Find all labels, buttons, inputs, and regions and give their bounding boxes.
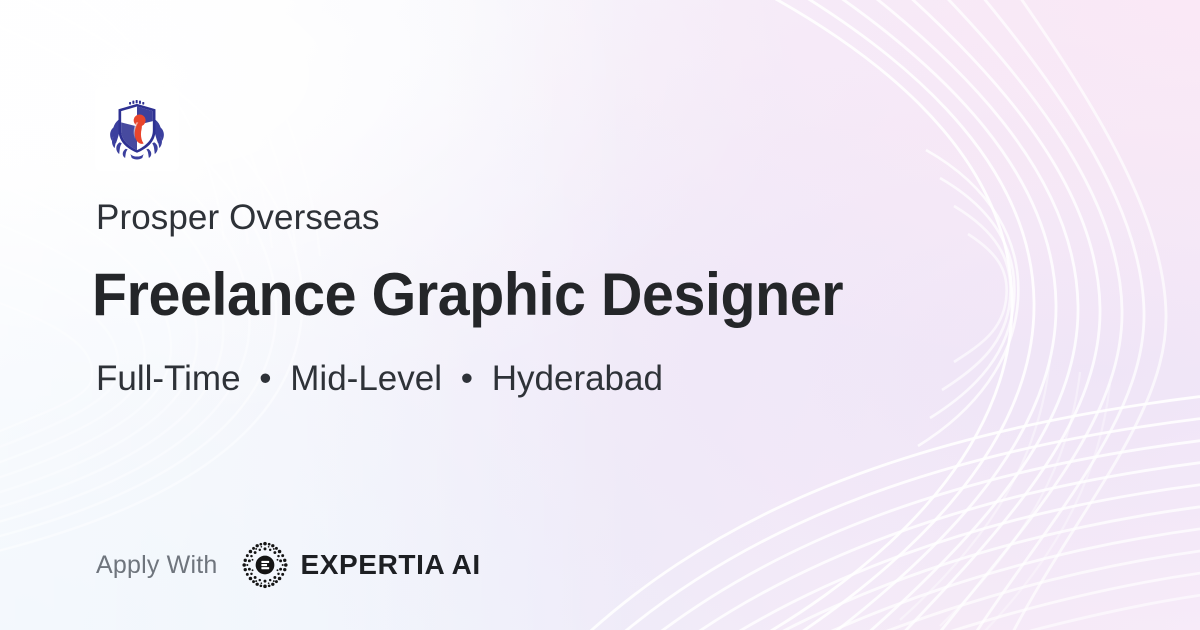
employment-type: Full-Time — [96, 359, 241, 398]
card-content: Prosper Overseas Freelance Graphic Desig… — [96, 0, 1096, 630]
job-title: Freelance Graphic Designer — [92, 262, 843, 328]
job-meta: Full-Time • Mid-Level • Hyderabad — [96, 358, 663, 400]
company-name: Prosper Overseas — [96, 198, 380, 238]
apply-with-label: Apply With — [96, 551, 217, 580]
company-logo — [96, 88, 178, 170]
meta-separator: • — [452, 359, 482, 398]
job-location: Hyderabad — [492, 359, 663, 398]
expertia-logo-icon — [239, 539, 291, 591]
seniority-level: Mid-Level — [290, 359, 442, 398]
expertia-brand-name: EXPERTIA AI — [300, 549, 480, 581]
meta-separator: • — [250, 359, 280, 398]
apply-with-footer: Apply With — [96, 542, 481, 588]
job-posting-card: Prosper Overseas Freelance Graphic Desig… — [0, 0, 1200, 630]
shield-crest-icon — [104, 96, 170, 162]
